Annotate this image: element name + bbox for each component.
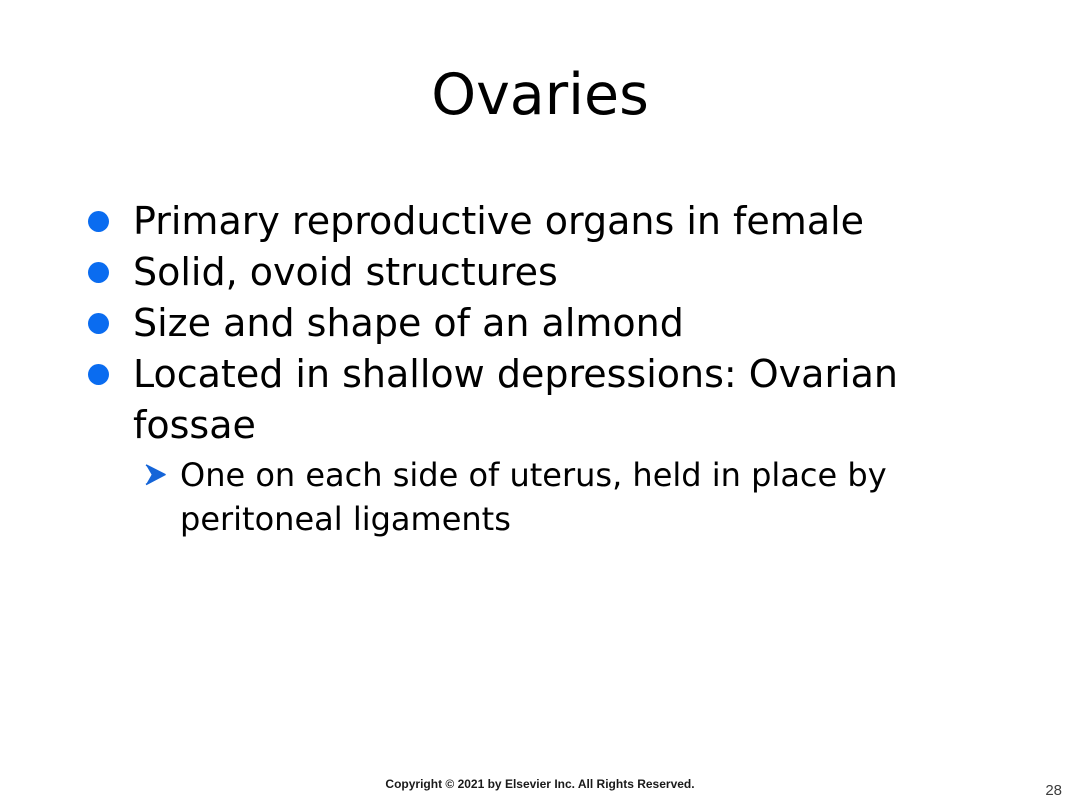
list-item: Located in shallow depressions: Ovarian … <box>82 349 1012 451</box>
sub-list-item-label: One on each side of uterus, held in plac… <box>180 453 1012 541</box>
list-item: Primary reproductive organs in female <box>82 196 1012 247</box>
slide-canvas: Ovaries Primary reproductive organs in f… <box>0 0 1080 810</box>
copyright-notice: Copyright © 2021 by Elsevier Inc. All Ri… <box>0 776 1080 792</box>
page-number: 28 <box>1045 782 1062 800</box>
list-item-label: Located in shallow depressions: Ovarian … <box>133 349 1012 451</box>
bullet-dot-icon <box>88 262 109 283</box>
sub-list-item: One on each side of uterus, held in plac… <box>82 453 1012 541</box>
arrowhead-icon <box>144 463 170 487</box>
list-item-label: Solid, ovoid structures <box>133 247 1012 298</box>
list-item-label: Size and shape of an almond <box>133 298 1012 349</box>
bullet-dot-icon <box>88 313 109 334</box>
bullet-dot-icon <box>88 364 109 385</box>
list-item: Size and shape of an almond <box>82 298 1012 349</box>
bullet-dot-icon <box>88 211 109 232</box>
bullet-list: Primary reproductive organs in female So… <box>82 196 1012 541</box>
list-item-label: Primary reproductive organs in female <box>133 196 1012 247</box>
page-title: Ovaries <box>0 62 1080 128</box>
list-item: Solid, ovoid structures <box>82 247 1012 298</box>
